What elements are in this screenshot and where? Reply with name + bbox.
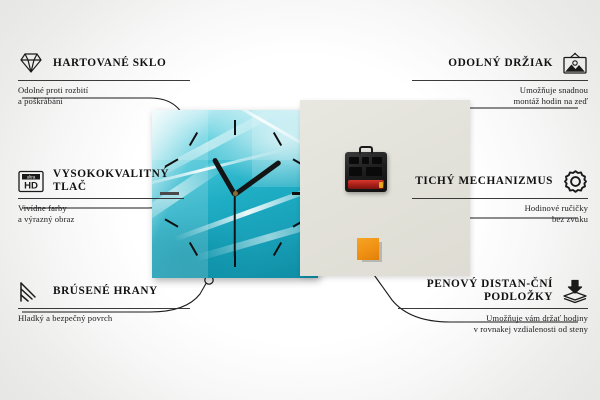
movement-hanger-icon [359,146,373,154]
feature-title: VYSOKOKVALITNÝ TLAČ [53,168,184,193]
feature-divider [18,80,190,81]
feature-foam-pads: PENOVÝ DISTAN-ČNÍ PODLOŽKY Umožňuje vám … [398,278,588,334]
clock-tick-12 [234,120,236,135]
feature-description: Hodinové ručičky bez zvuku [412,203,588,224]
feature-tempered-glass: HARTOVANÉ SKLO Odolné proti rozbití a po… [18,50,190,106]
feature-title: PENOVÝ DISTAN-ČNÍ PODLOŽKY [398,278,553,303]
diamond-icon [18,50,44,76]
foam-pad-icon [562,278,588,304]
feature-divider [412,198,588,199]
battery-terminal-icon [379,182,383,188]
ground-edges-icon [18,278,44,304]
feature-title: ODOLNÝ DRŽIAK [448,57,553,70]
feature-description: Odolné proti rozbití a poškrábání [18,85,190,106]
gear-icon [562,168,588,194]
infographic-canvas: HARTOVANÉ SKLO Odolné proti rozbití a po… [0,0,600,400]
clock-second-hand [234,195,236,257]
feature-title: HARTOVANÉ SKLO [53,57,166,70]
feature-hd-print: ultra HD VYSOKOKVALITNÝ TLAČ Vivídne far… [18,168,184,224]
feature-title: TICHÝ MECHANIZMUS [415,175,553,188]
feature-description: Vivídne farby a výrazný obraz [18,203,184,224]
feature-ground-edges: BRÚSENÉ HRANY Hladký a bezpečný povrch [18,278,190,324]
feature-description: Hladký a bezpečný povrch [18,313,190,324]
ultra-hd-icon: ultra HD [18,168,44,194]
svg-text:ultra: ultra [27,174,36,179]
battery [348,180,384,189]
feature-divider [18,198,184,199]
clock-movement [345,152,387,192]
picture-hanger-icon [562,50,588,76]
feature-mechanism: TICHÝ MECHANIZMUS Hodinové ručičky bez z… [412,168,588,224]
foam-spacer-pad [357,238,379,260]
feature-title: BRÚSENÉ HRANY [53,285,158,298]
feature-divider [412,80,588,81]
svg-text:HD: HD [24,180,38,191]
feature-holder: ODOLNÝ DRŽIAK Umožňuje snadnou montáž ho… [412,50,588,106]
feature-description: Umožňuje snadnou montáž hodin na zeď [412,85,588,106]
feature-divider [398,308,588,309]
clock-center-cap [233,191,238,196]
feature-description: Umožňuje vám držať hodiny v rovnakej vzd… [398,313,588,334]
feature-divider [18,308,190,309]
